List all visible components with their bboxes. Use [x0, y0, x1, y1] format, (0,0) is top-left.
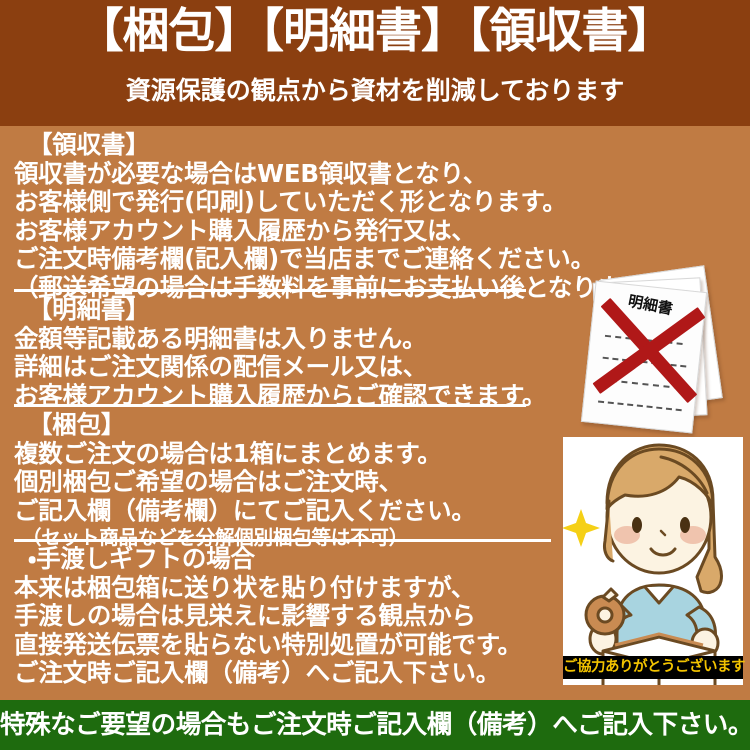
section-statement: 【明細書】 金額等記載ある明細書は入りません。 詳細はご注文関係の配信メール又は… — [14, 296, 546, 410]
section-gift-heading: ・手渡しギフトの場合 — [14, 545, 522, 574]
section-packaging-line-2: 個別梱包ご希望の場合はご注文時、 — [14, 468, 476, 497]
section-statement-line-1: 金額等記載ある明細書は入りません。 — [14, 325, 546, 354]
statement-papers-illustration: 明細書 — [582, 268, 750, 434]
divider-after-packaging — [14, 539, 551, 542]
character-caption: ご協力ありがとうございます！ — [563, 656, 743, 679]
section-receipt-line-1: 領収書が必要な場合はWEB領収書となり、 — [14, 160, 669, 189]
divider-after-receipt — [14, 289, 526, 292]
eye — [632, 517, 642, 533]
header-subtitle: 資源保護の観点から資材を削減しております — [0, 74, 750, 108]
page-title: 【梱包】【明細書】【領収書】 — [0, 1, 750, 63]
character-illustration-panel — [563, 437, 743, 685]
section-packaging-heading: 【梱包】 — [14, 411, 476, 440]
section-receipt-line-4: ご注文時備考欄(記入欄)で当店までご連絡ください。 — [14, 245, 669, 274]
section-gift-line-2: 手渡しの場合は見栄えに影響する観点から — [14, 602, 522, 631]
section-packaging: 【梱包】 複数ご注文の場合は1箱にまとめます。 個別梱包ご希望の場合はご注文時、… — [14, 411, 476, 550]
divider-after-statement — [14, 404, 526, 407]
section-packaging-line-3: ご記入欄（備考欄）にてご記入ください。 — [14, 497, 476, 526]
section-receipt: 【領収書】 領収書が必要な場合はWEB領収書となり、 お客様側で発行(印刷)して… — [14, 131, 669, 302]
footer-text: 特殊なご要望の場合もご注文時ご記入欄（備考）へご記入下さい。 — [0, 700, 750, 750]
red-x-icon — [577, 278, 720, 423]
header-banner: 【梱包】【明細書】【領収書】 資源保護の観点から資材を削減しております — [0, 0, 750, 126]
section-statement-heading: 【明細書】 — [14, 296, 546, 325]
section-gift-line-1: 本来は梱包箱に送り状を貼り付けますが、 — [14, 574, 522, 603]
section-gift-line-4: ご注文時ご記入欄（備考）へご記入下さい。 — [14, 659, 522, 688]
footer-banner: 特殊なご要望の場合もご注文時ご記入欄（備考）へご記入下さい。 — [0, 700, 750, 750]
section-packaging-line-1: 複数ご注文の場合は1箱にまとめます。 — [14, 440, 476, 469]
section-statement-line-2: 詳細はご注文関係の配信メール又は、 — [14, 353, 546, 382]
eye — [680, 517, 690, 533]
promo-graphic: 【梱包】【明細書】【領収書】 資源保護の観点から資材を削減しております 【領収書… — [0, 0, 750, 750]
section-receipt-heading: 【領収書】 — [14, 131, 669, 160]
red-x-stroke — [593, 307, 706, 394]
section-gift: ・手渡しギフトの場合 本来は梱包箱に送り状を貼り付けますが、 手渡しの場合は見栄… — [14, 545, 522, 688]
section-receipt-line-3: お客様アカウント購入履歴から発行又は、 — [14, 217, 669, 246]
packing-woman-illustration — [563, 437, 743, 685]
section-receipt-line-2: お客様側で発行(印刷)していただく形となります。 — [14, 188, 669, 217]
section-gift-line-3: 直接発送伝票を貼らない特別処置が可能です。 — [14, 631, 522, 660]
